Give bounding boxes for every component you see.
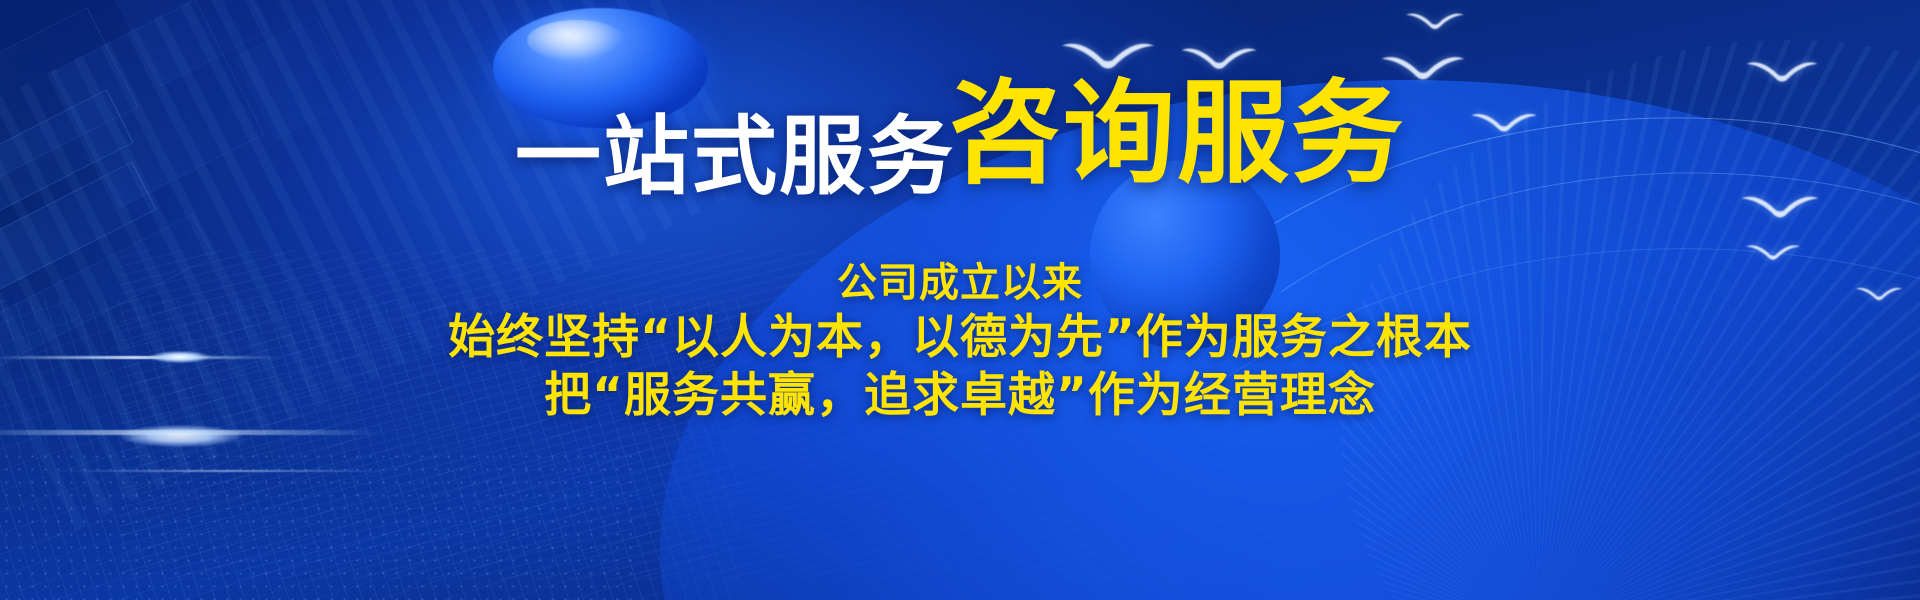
headline-main-text: 一站式服务 <box>515 107 955 207</box>
headline: 一站式服务咨询服务 <box>0 78 1920 200</box>
headline-accent-text: 咨询服务 <box>949 69 1405 199</box>
subtitle-line-3: 把“服务共赢，追求卓越”作为经营理念 <box>0 367 1920 424</box>
light-spark-2 <box>120 425 240 447</box>
dot-grid-texture <box>0 450 640 600</box>
subtitle-line-1: 公司成立以来 <box>0 258 1920 309</box>
light-streak-3 <box>60 470 390 472</box>
promotional-banner: 一站式服务咨询服务 公司成立以来 始终坚持“以人为本，以德为先”作为服务之根本 … <box>0 0 1920 600</box>
subtitle-block: 公司成立以来 始终坚持“以人为本，以德为先”作为服务之根本 把“服务共赢，追求卓… <box>0 258 1920 424</box>
light-streak-2 <box>0 430 380 435</box>
subtitle-line-2: 始终坚持“以人为本，以德为先”作为服务之根本 <box>0 309 1920 366</box>
bird-4-icon <box>1405 10 1465 34</box>
